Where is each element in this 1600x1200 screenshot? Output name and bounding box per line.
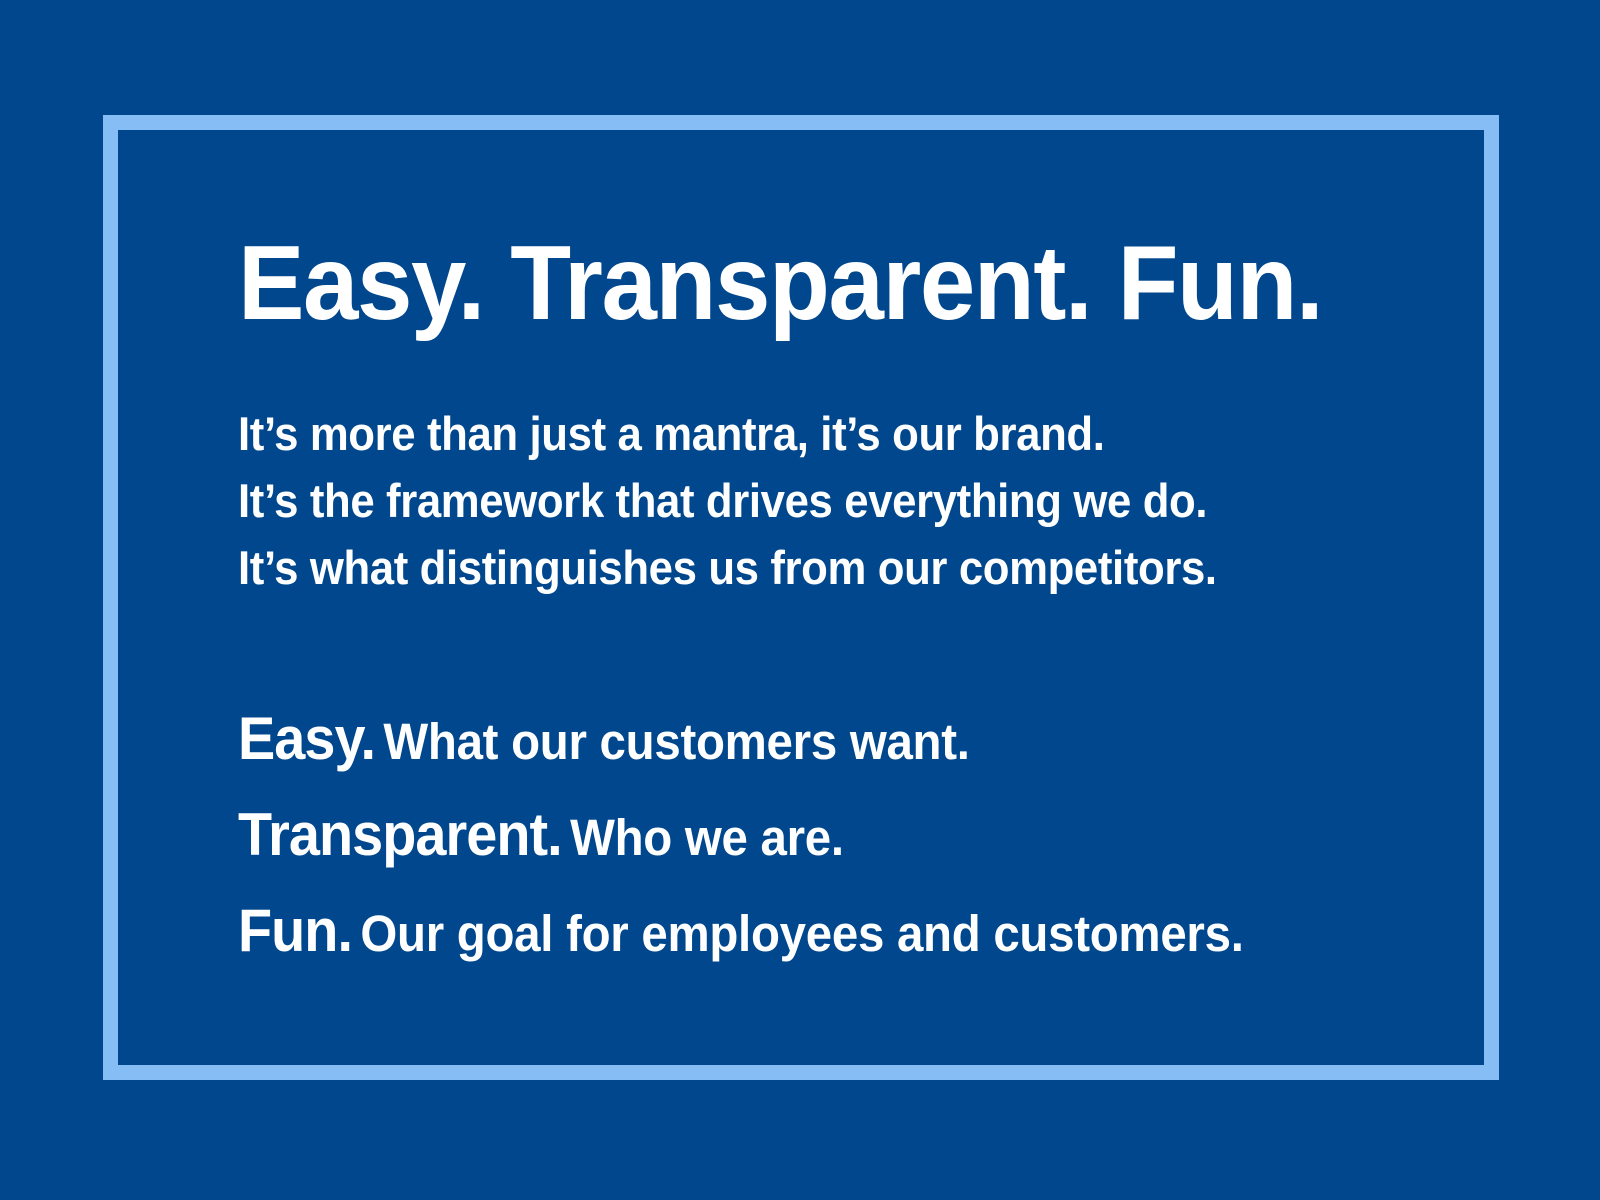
intro-line-1: It’s more than just a mantra, it’s our b…: [238, 400, 1317, 467]
definition-term-easy: Easy.: [238, 705, 375, 772]
definition-list: Easy.What our customers want. Transparen…: [238, 699, 1317, 987]
page-title: Easy. Transparent. Fun.: [238, 230, 1328, 336]
intro-line-2: It’s the framework that drives everythin…: [238, 467, 1317, 534]
definition-term-fun: Fun.: [238, 897, 352, 964]
definition-term-transparent: Transparent.: [238, 801, 562, 868]
definition-description-easy: What our customers want.: [375, 713, 970, 770]
brand-mantra-slide: Easy. Transparent. Fun. It’s more than j…: [0, 0, 1600, 1200]
definition-description-fun: Our goal for employees and customers.: [352, 905, 1244, 962]
definition-item-transparent: Transparent.Who we are.: [238, 795, 1317, 891]
intro-line-3: It’s what distinguishes us from our comp…: [238, 534, 1317, 601]
definition-item-fun: Fun.Our goal for employees and customers…: [238, 891, 1317, 987]
intro-paragraph: It’s more than just a mantra, it’s our b…: [238, 400, 1317, 601]
definition-description-transparent: Who we are.: [562, 809, 844, 866]
slide-content: Easy. Transparent. Fun. It’s more than j…: [238, 230, 1398, 987]
definition-item-easy: Easy.What our customers want.: [238, 699, 1317, 795]
